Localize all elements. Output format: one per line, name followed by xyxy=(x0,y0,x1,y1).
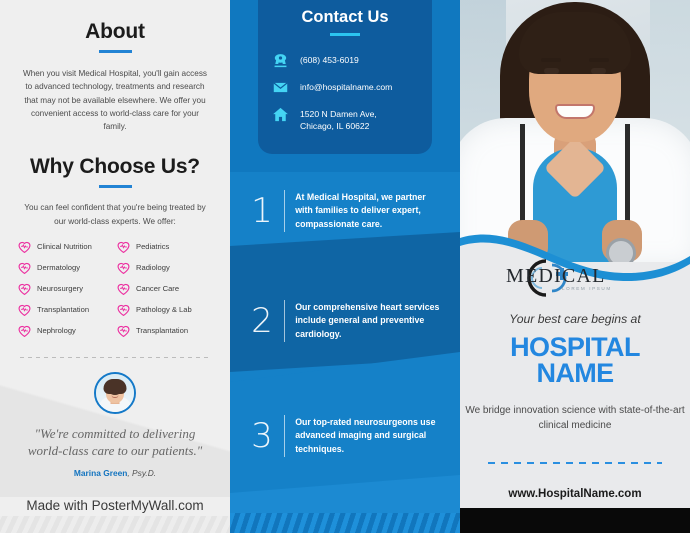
heart-pulse-icon xyxy=(18,325,31,337)
service-item: Dermatology xyxy=(18,262,115,274)
why-body-text: You can feel confident that you're being… xyxy=(0,201,230,228)
item-divider-line xyxy=(284,300,285,342)
doctor-smile xyxy=(555,104,595,119)
service-item: Pediatrics xyxy=(117,241,214,253)
cover-dashed-divider xyxy=(488,462,662,464)
service-label: Transplantation xyxy=(136,326,188,335)
contact-phone-text: (608) 453-6019 xyxy=(300,52,359,66)
numbered-list-item: 3 Our top-rated neurosurgeons use advanc… xyxy=(230,415,443,457)
service-label: Pediatrics xyxy=(136,242,169,251)
logo-subtitle: LOREM IPSUM xyxy=(562,286,612,291)
about-section: About When you visit Medical Hospital, y… xyxy=(0,0,230,133)
service-item: Cancer Care xyxy=(117,283,214,295)
contact-email-row[interactable]: info@hospitalname.com xyxy=(272,79,432,96)
heart-pulse-icon xyxy=(117,241,130,253)
cover-tagline: Your best care begins at xyxy=(460,312,690,326)
item-number: 2 xyxy=(250,304,274,338)
address-line-1: 1520 N Damen Ave, xyxy=(300,109,377,119)
section-divider xyxy=(20,357,210,358)
contact-heading: Contact Us xyxy=(258,8,432,27)
why-choose-us-heading: Why Choose Us? xyxy=(0,155,230,179)
service-label: Clinical Nutrition xyxy=(37,242,92,251)
heart-pulse-icon xyxy=(117,283,130,295)
heart-pulse-icon xyxy=(117,304,130,316)
avatar-hair xyxy=(104,379,127,394)
service-label: Cancer Care xyxy=(136,284,179,293)
cover-description: We bridge innovation science with state-… xyxy=(460,403,690,433)
phone-icon xyxy=(272,52,289,69)
item-text: At Medical Hospital, we partner with fam… xyxy=(295,191,443,231)
about-body-text: When you visit Medical Hospital, you'll … xyxy=(0,67,230,133)
logo: MEDICAL LOREM IPSUM xyxy=(460,256,690,300)
item-text: Our comprehensive heart services include… xyxy=(295,301,443,341)
services-grid: Clinical Nutrition Pediatrics Dermatolog… xyxy=(0,241,230,337)
heart-pulse-icon xyxy=(117,325,130,337)
doctor-eye-left xyxy=(544,68,559,74)
service-label: Nephrology xyxy=(37,326,76,335)
testimonial-attribution: Marina Green, Psy.D. xyxy=(0,468,230,478)
hospital-name: HOSPITAL NAME xyxy=(460,334,690,387)
hospital-name-line-2: NAME xyxy=(536,358,613,388)
why-choose-us-section: Why Choose Us? You can feel confident th… xyxy=(0,155,230,337)
right-panel-cover: MEDICAL LOREM IPSUM Your best care begin… xyxy=(460,0,690,533)
doctor-eyebrow-left xyxy=(541,58,561,62)
testimonial-section xyxy=(0,372,230,414)
doctor-hair-front xyxy=(519,12,631,74)
contact-underline-accent xyxy=(330,33,360,36)
service-label: Radiology xyxy=(136,263,170,272)
watermark-strip: Made with PosterMyWall.com xyxy=(0,497,230,533)
testimonial-author-credential: , Psy.D. xyxy=(127,468,156,478)
middle-panel-contact: Contact Us (608) 453-6019 info@hospitaln… xyxy=(230,0,460,533)
home-icon xyxy=(272,106,289,123)
contact-details-list: (608) 453-6019 info@hospitalname.com 152… xyxy=(258,52,432,132)
about-underline-accent xyxy=(99,50,132,53)
heart-pulse-icon xyxy=(18,283,31,295)
service-item: Transplantation xyxy=(18,304,115,316)
item-text: Our top-rated neurosurgeons use advanced… xyxy=(295,416,443,456)
service-label: Dermatology xyxy=(37,263,80,272)
item-divider-line xyxy=(284,190,285,232)
bottom-black-bar xyxy=(460,508,690,533)
numbered-list-item: 1 At Medical Hospital, we partner with f… xyxy=(230,190,443,232)
service-item: Clinical Nutrition xyxy=(18,241,115,253)
contact-card: Contact Us (608) 453-6019 info@hospitaln… xyxy=(258,0,432,154)
contact-phone-row[interactable]: (608) 453-6019 xyxy=(272,52,432,69)
address-line-2: Chicago, IL 60622 xyxy=(300,121,369,131)
trifold-brochure: About When you visit Medical Hospital, y… xyxy=(0,0,690,533)
contact-email-text: info@hospitalname.com xyxy=(300,79,392,93)
why-underline-accent xyxy=(99,185,132,188)
medical-logo: MEDICAL LOREM IPSUM xyxy=(500,256,650,300)
numbered-list-item: 2 Our comprehensive heart services inclu… xyxy=(230,300,443,342)
envelope-icon xyxy=(272,79,289,96)
item-number: 3 xyxy=(250,419,274,453)
website-url[interactable]: www.HospitalName.com xyxy=(460,488,690,500)
service-item: Neurosurgery xyxy=(18,283,115,295)
watermark-text: Made with PosterMyWall.com xyxy=(0,497,230,516)
item-number: 1 xyxy=(250,194,274,228)
heart-pulse-icon xyxy=(18,304,31,316)
service-label: Pathology & Lab xyxy=(136,305,192,314)
middle-striped-band xyxy=(230,513,460,533)
service-item: Nephrology xyxy=(18,325,115,337)
heart-pulse-icon xyxy=(117,262,130,274)
doctor-eyebrow-right xyxy=(589,58,609,62)
service-label: Neurosurgery xyxy=(37,284,83,293)
contact-address-row[interactable]: 1520 N Damen Ave, Chicago, IL 60622 xyxy=(272,106,432,132)
contact-address-text: 1520 N Damen Ave, Chicago, IL 60622 xyxy=(300,106,377,132)
service-label: Transplantation xyxy=(37,305,89,314)
heart-pulse-icon xyxy=(18,241,31,253)
testimonial-quote: "We're committed to delivering world-cla… xyxy=(0,425,230,459)
service-item: Radiology xyxy=(117,262,214,274)
service-item: Pathology & Lab xyxy=(117,304,214,316)
about-heading: About xyxy=(0,20,230,44)
service-item: Transplantation xyxy=(117,325,214,337)
logo-wordmark: MEDICAL xyxy=(506,265,606,288)
testimonial-author-name: Marina Green xyxy=(74,468,128,478)
item-divider-line xyxy=(284,415,285,457)
doctor-eye-right xyxy=(591,68,606,74)
avatar xyxy=(94,372,136,414)
heart-pulse-icon xyxy=(18,262,31,274)
left-panel-about: About When you visit Medical Hospital, y… xyxy=(0,0,230,533)
